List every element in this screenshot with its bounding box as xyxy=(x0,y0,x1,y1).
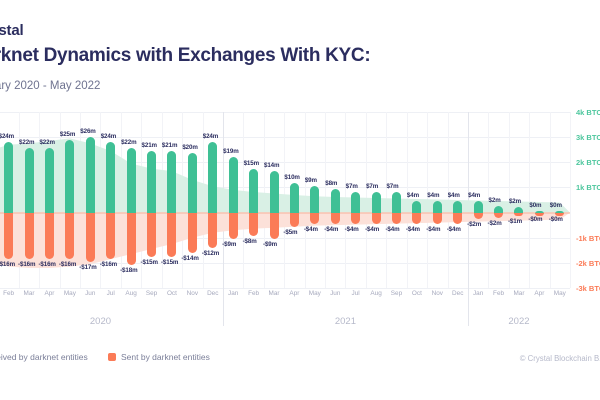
right-axis-tick: 3k BTC xyxy=(576,133,600,142)
right-axis-tick: 1k BTC xyxy=(576,183,600,192)
x-axis-tick: Jun xyxy=(330,290,340,297)
bar-sent[interactable] xyxy=(453,213,462,225)
bar-value-label-received: $4m xyxy=(468,192,480,199)
x-axis-tick: Jul xyxy=(352,290,360,297)
bar-sent[interactable] xyxy=(45,213,54,260)
gridline-horizontal xyxy=(0,288,570,289)
year-axis: 202020212022 xyxy=(0,316,570,332)
x-axis-tick: Apr xyxy=(44,290,54,297)
bar-received[interactable] xyxy=(208,142,217,212)
bar-sent[interactable] xyxy=(147,213,156,257)
x-axis-tick: Jun xyxy=(85,290,95,297)
x-axis-tick: Mar xyxy=(24,290,35,297)
bar-value-label-sent: -$12m xyxy=(202,250,219,257)
bar-received[interactable] xyxy=(494,206,503,212)
x-axis-tick: May xyxy=(64,290,76,297)
bar-value-label-sent: -$0m xyxy=(528,216,542,223)
bar-received[interactable] xyxy=(290,183,299,213)
bar-sent[interactable] xyxy=(127,213,136,266)
right-axis-tick: 4k BTC xyxy=(576,108,600,117)
bar-value-label-sent: -$4m xyxy=(324,226,338,233)
legend-item[interactable]: Sent by darknet entities xyxy=(108,352,210,362)
copyright-text: © Crystal Blockchain B.V. xyxy=(520,354,600,363)
x-axis-tick: Aug xyxy=(370,290,381,297)
bar-value-label-sent: -$4m xyxy=(385,226,399,233)
x-axis-tick: Oct xyxy=(167,290,177,297)
x-axis-tick: Nov xyxy=(432,290,443,297)
bar-value-label-received: $0m xyxy=(550,202,562,209)
bar-received[interactable] xyxy=(229,157,238,212)
bar-sent[interactable] xyxy=(290,213,299,228)
bar-received[interactable] xyxy=(310,186,319,213)
right-axis-tick: 2k BTC xyxy=(576,158,600,167)
chart-page: Crystal Darknet Dynamics with Exchanges … xyxy=(0,0,600,400)
bar-value-label-sent: -$16m xyxy=(18,261,35,268)
x-axis-tick: Jan xyxy=(473,290,483,297)
bar-value-label-sent: -$2m xyxy=(467,221,481,228)
legend-item[interactable]: Received by darknet entities xyxy=(0,352,88,362)
bar-value-label-sent: -$15m xyxy=(161,259,178,266)
bar-value-label-sent: -$4m xyxy=(304,226,318,233)
bar-sent[interactable] xyxy=(25,213,34,260)
bar-received[interactable] xyxy=(188,153,197,212)
bar-received[interactable] xyxy=(25,148,34,212)
x-axis-tick: Oct xyxy=(412,290,422,297)
x-axis-tick: Dec xyxy=(452,290,463,297)
x-axis-tick: Jan xyxy=(228,290,238,297)
year-label: 2020 xyxy=(90,316,111,327)
bar-received[interactable] xyxy=(514,207,523,213)
bar-received[interactable] xyxy=(372,192,381,213)
bar-value-label-received: $22m xyxy=(19,139,34,146)
bar-value-label-received: $8m xyxy=(325,180,337,187)
plot-area: $25m-$16m$24m-$16m$22m-$16m$22m-$16m$25m… xyxy=(0,112,570,288)
bar-sent[interactable] xyxy=(167,213,176,257)
bar-value-label-received: $24m xyxy=(0,133,14,140)
bar-sent[interactable] xyxy=(514,213,523,216)
bar-received[interactable] xyxy=(270,171,279,212)
bar-value-label-received: $7m xyxy=(366,183,378,190)
bar-value-label-received: $7m xyxy=(386,183,398,190)
bar-value-label-sent: -$4m xyxy=(345,226,359,233)
bar-value-label-received: $19m xyxy=(223,148,238,155)
bar-value-label-received: $0m xyxy=(529,202,541,209)
bar-value-label-received: $2m xyxy=(509,198,521,205)
bar-value-label-sent: -$16m xyxy=(0,261,15,268)
bar-value-label-sent: -$9m xyxy=(263,241,277,248)
bar-sent[interactable] xyxy=(188,213,197,254)
right-axis-tick: -1k BTC xyxy=(576,234,600,243)
bar-value-label-sent: -$16m xyxy=(38,261,55,268)
bar-sent[interactable] xyxy=(208,213,217,248)
bar-value-label-sent: -$1m xyxy=(508,218,522,225)
bar-received[interactable] xyxy=(106,142,115,212)
x-axis-tick: Feb xyxy=(493,290,504,297)
bar-value-label-received: $22m xyxy=(39,139,54,146)
right-axis-tick: -3k BTC xyxy=(576,284,600,293)
x-axis-tick: Feb xyxy=(248,290,259,297)
bar-sent[interactable] xyxy=(65,213,74,260)
bar-value-label-received: $10m xyxy=(284,174,299,181)
x-axis-tick: Sep xyxy=(391,290,402,297)
bar-value-label-sent: -$17m xyxy=(79,264,96,271)
bar-sent[interactable] xyxy=(310,213,319,225)
bar-received[interactable] xyxy=(167,151,176,213)
bar-sent[interactable] xyxy=(249,213,258,236)
x-axis-tick: Mar xyxy=(513,290,524,297)
bar-sent[interactable] xyxy=(412,213,421,225)
right-axis-tick: -2k BTC xyxy=(576,259,600,268)
bar-value-label-sent: -$16m xyxy=(100,261,117,268)
bar-received[interactable] xyxy=(65,140,74,213)
bar-received[interactable] xyxy=(392,192,401,213)
x-axis-tick: Apr xyxy=(534,290,544,297)
bar-value-label-received: $22m xyxy=(121,139,136,146)
bar-value-label-received: $20m xyxy=(182,144,197,151)
bar-sent[interactable] xyxy=(494,213,503,219)
bar-value-label-sent: -$9m xyxy=(222,241,236,248)
bar-value-label-sent: -$5m xyxy=(283,229,297,236)
bar-value-label-received: $24m xyxy=(203,133,218,140)
bar-value-label-received: $9m xyxy=(305,177,317,184)
square-swatch-icon xyxy=(108,353,116,361)
x-axis-tick: May xyxy=(554,290,566,297)
bar-value-label-sent: -$8m xyxy=(243,238,257,245)
x-axis-tick: Aug xyxy=(125,290,136,297)
bar-received[interactable] xyxy=(433,201,442,213)
bar-value-label-received: $25m xyxy=(60,131,75,138)
legend-label: Sent by darknet entities xyxy=(121,352,210,362)
bar-value-label-received: $2m xyxy=(489,197,501,204)
x-axis-tick: Feb xyxy=(3,290,14,297)
bar-received[interactable] xyxy=(249,169,258,213)
bar-value-label-sent: -$4m xyxy=(365,226,379,233)
bar-sent[interactable] xyxy=(4,213,13,260)
bar-received[interactable] xyxy=(331,189,340,213)
bar-value-label-received: $4m xyxy=(427,192,439,199)
x-axis-tick: May xyxy=(309,290,321,297)
bar-sent[interactable] xyxy=(392,213,401,225)
bar-value-label-received: $14m xyxy=(264,162,279,169)
bar-received[interactable] xyxy=(147,151,156,213)
bar-received[interactable] xyxy=(453,201,462,213)
x-axis-tick: Dec xyxy=(207,290,218,297)
x-axis: JanFebMarAprMayJunJulAugSepOctNovDecJanF… xyxy=(0,290,570,306)
bar-value-label-received: $24m xyxy=(101,133,116,140)
bar-received[interactable] xyxy=(45,148,54,212)
bar-group: $25m-$16m$24m-$16m$22m-$16m$22m-$16m$25m… xyxy=(0,112,570,288)
bar-value-label-sent: -$16m xyxy=(59,261,76,268)
bar-sent[interactable] xyxy=(229,213,238,239)
bar-value-label-sent: -$4m xyxy=(447,226,461,233)
bar-value-label-received: $4m xyxy=(407,192,419,199)
bar-value-label-received: $21m xyxy=(142,142,157,149)
bar-received[interactable] xyxy=(412,201,421,213)
bar-value-label-sent: -$18m xyxy=(120,267,137,274)
brand-logo: Crystal xyxy=(0,22,23,39)
bar-value-label-received: $26m xyxy=(80,128,95,135)
bar-sent[interactable] xyxy=(433,213,442,225)
bar-sent[interactable] xyxy=(331,213,340,225)
page-subtitle: January 2020 - May 2022 xyxy=(0,80,100,92)
year-label: 2022 xyxy=(508,316,529,327)
bar-value-label-sent: -$4m xyxy=(406,226,420,233)
bar-sent[interactable] xyxy=(106,213,115,260)
bar-sent[interactable] xyxy=(474,213,483,219)
bar-sent[interactable] xyxy=(351,213,360,225)
bar-sent[interactable] xyxy=(270,213,279,239)
legend-label: Received by darknet entities xyxy=(0,352,88,362)
x-axis-tick: Nov xyxy=(187,290,198,297)
bar-received[interactable] xyxy=(127,148,136,212)
bar-sent[interactable] xyxy=(372,213,381,225)
bar-received[interactable] xyxy=(86,137,95,212)
x-axis-tick: Jul xyxy=(107,290,115,297)
bar-value-label-sent: -$2m xyxy=(488,220,502,227)
bar-value-label-received: $7m xyxy=(346,183,358,190)
bar-value-label-received: $21m xyxy=(162,142,177,149)
x-axis-tick: Sep xyxy=(146,290,157,297)
right-axis: 4k BTC3k BTC2k BTC1k BTC-1k BTC-2k BTC-3… xyxy=(570,112,600,288)
bar-value-label-sent: -$15m xyxy=(141,259,158,266)
bar-value-label-received: $4m xyxy=(448,192,460,199)
bar-value-label-received: $15m xyxy=(244,160,259,167)
bar-value-label-sent: -$14m xyxy=(181,255,198,262)
x-axis-tick: Apr xyxy=(289,290,299,297)
bar-value-label-sent: -$0m xyxy=(549,216,563,223)
x-axis-tick: Mar xyxy=(268,290,279,297)
page-title: Darknet Dynamics with Exchanges With KYC… xyxy=(0,45,600,67)
bar-value-label-sent: -$4m xyxy=(426,226,440,233)
bar-sent[interactable] xyxy=(86,213,95,262)
year-label: 2021 xyxy=(335,316,356,327)
bar-received[interactable] xyxy=(351,192,360,213)
bar-received[interactable] xyxy=(4,142,13,212)
bar-received[interactable] xyxy=(474,201,483,213)
